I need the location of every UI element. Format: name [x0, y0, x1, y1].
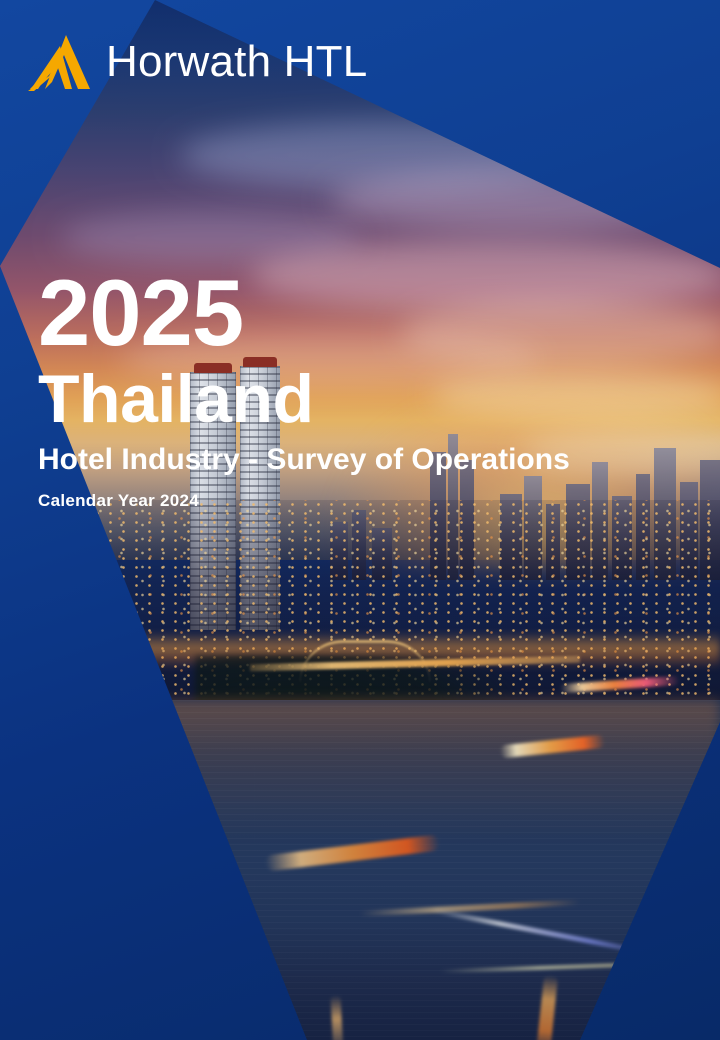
cover-year: 2025 [38, 268, 718, 357]
cover-subtitle: Hotel Industry - Survey of Operations [38, 443, 718, 476]
cloud [330, 170, 710, 230]
cover-title-block: 2025 Thailand Hotel Industry - Survey of… [38, 268, 718, 511]
river-water [0, 700, 720, 1040]
brand-name: Horwath HTL [106, 40, 367, 84]
horwath-chevron-logo-icon [28, 32, 92, 92]
cover-page: Horwath HTL 2025 Thailand Hotel Industry… [0, 0, 720, 1040]
cover-country: Thailand [38, 365, 718, 433]
cover-period: Calendar Year 2024 [38, 492, 718, 511]
cover-photo [0, 0, 720, 1040]
brand-logo: Horwath HTL [28, 32, 367, 92]
